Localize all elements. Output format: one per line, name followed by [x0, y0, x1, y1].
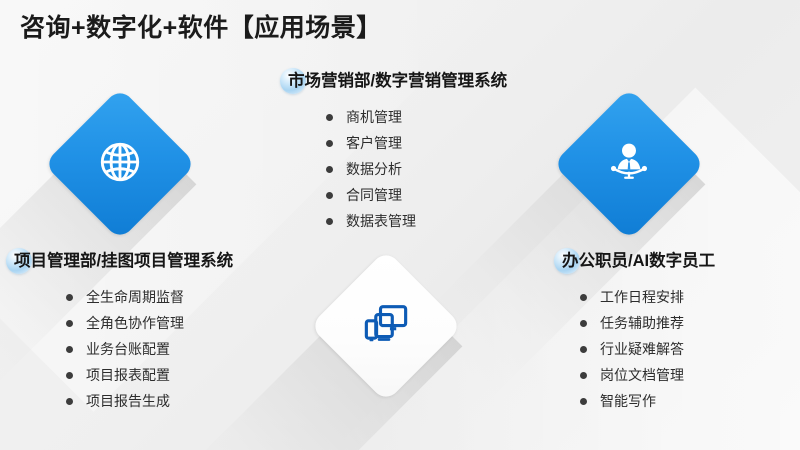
bullet-dot-icon [580, 320, 587, 327]
list-item-label: 行业疑难解答 [600, 339, 684, 359]
list-item: 全角色协作管理 [66, 310, 310, 336]
bullet-dot-icon [326, 140, 333, 147]
list-item-label: 数据表管理 [346, 211, 416, 231]
responsive-devices-icon [364, 304, 408, 349]
list-item-label: 客户管理 [346, 133, 402, 153]
list-item: 行业疑难解答 [580, 336, 800, 362]
list-item: 业务台账配置 [66, 336, 310, 362]
slide-canvas: 咨询+数字化+软件【应用场景】 [0, 0, 800, 450]
list-item: 数据分析 [326, 156, 584, 182]
list-item-label: 合同管理 [346, 185, 402, 205]
block-marketing: 市场营销部/数字营销管理系统 商机管理 客户管理 数据分析 合同管理 数据表管理 [284, 68, 584, 234]
marketing-heading: 市场营销部/数字营销管理系统 [284, 68, 584, 94]
block-office: 办公职员/AI数字员工 工作日程安排 任务辅助推荐 行业疑难解答 岗位文档管理 … [558, 248, 800, 414]
list-item: 项目报告生成 [66, 388, 310, 414]
list-item: 客户管理 [326, 130, 584, 156]
list-item-label: 工作日程安排 [600, 287, 684, 307]
list-item-label: 项目报告生成 [86, 391, 170, 411]
list-item-label: 业务台账配置 [86, 339, 170, 359]
list-item: 任务辅助推荐 [580, 310, 800, 336]
office-item-list: 工作日程安排 任务辅助推荐 行业疑难解答 岗位文档管理 智能写作 [558, 284, 800, 414]
bullet-dot-icon [580, 372, 587, 379]
list-item: 全生命周期监督 [66, 284, 310, 310]
list-item: 合同管理 [326, 182, 584, 208]
bullet-dot-icon [66, 320, 73, 327]
bullet-dot-icon [326, 218, 333, 225]
bullet-dot-icon [66, 294, 73, 301]
bullet-dot-icon [326, 192, 333, 199]
bullet-dot-icon [66, 398, 73, 405]
list-item: 数据表管理 [326, 208, 584, 234]
list-item-label: 任务辅助推荐 [600, 313, 684, 333]
bullet-dot-icon [66, 372, 73, 379]
list-item: 商机管理 [326, 104, 584, 130]
bullet-dot-icon [580, 346, 587, 353]
devices-diamond-tile [310, 250, 463, 403]
block-project: 项目管理部/挂图项目管理系统 全生命周期监督 全角色协作管理 业务台账配置 项目… [10, 248, 310, 414]
list-item-label: 商机管理 [346, 107, 402, 127]
bullet-dot-icon [326, 166, 333, 173]
list-item-label: 项目报表配置 [86, 365, 170, 385]
list-item: 工作日程安排 [580, 284, 800, 310]
globe-diamond-tile [44, 88, 197, 241]
list-item-label: 全生命周期监督 [86, 287, 184, 307]
list-item: 岗位文档管理 [580, 362, 800, 388]
bullet-dot-icon [66, 346, 73, 353]
list-item-label: 数据分析 [346, 159, 402, 179]
project-item-list: 全生命周期监督 全角色协作管理 业务台账配置 项目报表配置 项目报告生成 [10, 284, 310, 414]
marketing-item-list: 商机管理 客户管理 数据分析 合同管理 数据表管理 [284, 104, 584, 234]
globe-icon [93, 135, 147, 194]
list-item-label: 智能写作 [600, 391, 656, 411]
list-item: 项目报表配置 [66, 362, 310, 388]
page-title: 咨询+数字化+软件【应用场景】 [20, 8, 382, 44]
presenter-person-icon [603, 136, 655, 193]
project-heading: 项目管理部/挂图项目管理系统 [10, 248, 310, 274]
list-item-label: 岗位文档管理 [600, 365, 684, 385]
bullet-dot-icon [326, 114, 333, 121]
list-item: 智能写作 [580, 388, 800, 414]
bullet-dot-icon [580, 398, 587, 405]
list-item-label: 全角色协作管理 [86, 313, 184, 333]
office-heading: 办公职员/AI数字员工 [558, 248, 800, 274]
bullet-dot-icon [580, 294, 587, 301]
